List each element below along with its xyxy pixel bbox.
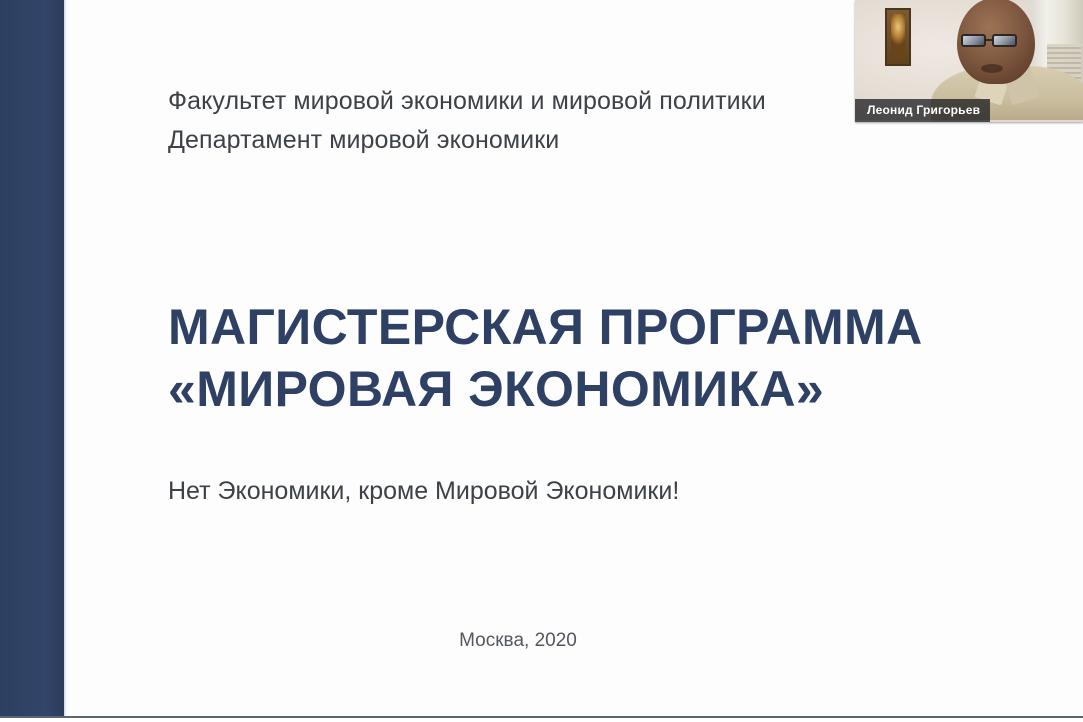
glasses-lens-right <box>992 34 1017 47</box>
title-line-1: МАГИСТЕРСКАЯ ПРОГРАММА <box>168 296 1028 358</box>
webcam-video-overlay[interactable]: Леонид Григорьев <box>855 0 1083 122</box>
wall-picture-art <box>891 14 905 60</box>
participant-mouth <box>981 64 1003 73</box>
faculty-line-2: Департамент мировой экономики <box>168 121 928 160</box>
slide-accent-bar <box>0 0 64 716</box>
slide-accent-bar-edge-soft <box>67 0 76 716</box>
slide-slogan: Нет Экономики, кроме Мировой Экономики! <box>168 474 679 508</box>
participant-name-label: Леонид Григорьев <box>855 99 990 122</box>
glasses-icon <box>961 34 1031 47</box>
page-title: МАГИСТЕРСКАЯ ПРОГРАММА «МИРОВАЯ ЭКОНОМИК… <box>168 296 1028 420</box>
faculty-line-1: Факультет мировой экономики и мировой по… <box>168 82 928 121</box>
slide-bottom-rule <box>0 716 1083 722</box>
faculty-heading: Факультет мировой экономики и мировой по… <box>168 82 928 160</box>
glasses-lens-left <box>961 34 986 47</box>
slide-place-date: Москва, 2020 <box>168 630 868 652</box>
presentation-slide: Факультет мировой экономики и мировой по… <box>0 0 1083 722</box>
wall-picture-icon <box>885 8 911 66</box>
title-line-2: «МИРОВАЯ ЭКОНОМИКА» <box>168 358 1028 420</box>
